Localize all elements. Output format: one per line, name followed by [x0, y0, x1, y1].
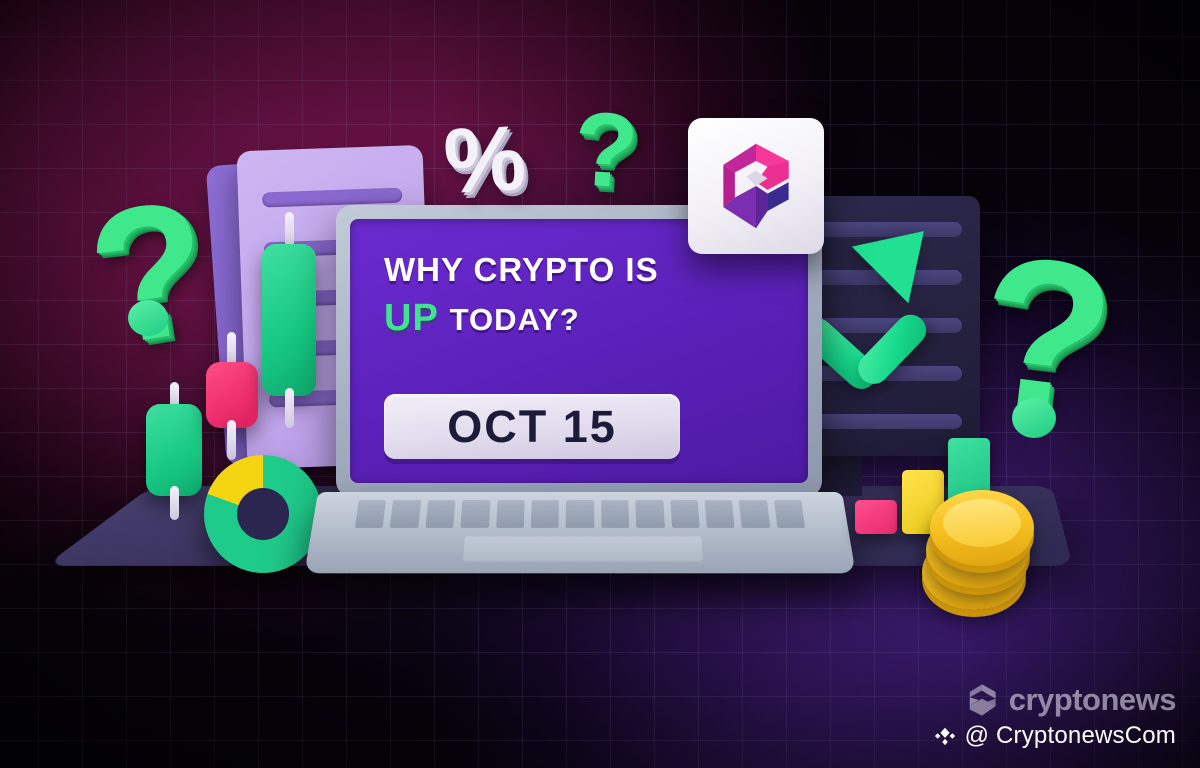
keyboard-key	[601, 500, 629, 528]
cryptonews-c-logo-icon	[708, 138, 804, 234]
scene-illustration: WHY CRYPTO IS UP TODAY? OCT 15	[0, 0, 1200, 768]
keyboard-key	[390, 500, 421, 528]
watermark-handle: @ CryptonewsCom	[965, 722, 1176, 750]
gold-coin	[930, 490, 1034, 566]
headline-today-word: TODAY?	[450, 302, 580, 337]
cryptonews-logo-badge	[688, 118, 824, 254]
keyboard-key	[774, 500, 805, 528]
monitor-stand	[818, 452, 862, 496]
keyboard-key	[460, 500, 490, 528]
keyboard-key	[566, 500, 594, 528]
headline-line-2: UP TODAY?	[384, 299, 786, 337]
candlestick-green	[262, 244, 316, 396]
candlestick-pink	[206, 362, 258, 428]
keyboard-key	[355, 500, 386, 528]
keyboard-keys	[355, 500, 805, 528]
watermark-brand-name: cryptonews	[1009, 682, 1176, 718]
screen-text-block: WHY CRYPTO IS UP TODAY?	[384, 253, 786, 337]
percent-symbol: %	[442, 112, 529, 208]
date-badge-label: OCT 15	[447, 401, 617, 453]
date-badge: OCT 15	[384, 394, 680, 459]
keyboard-key	[531, 500, 559, 528]
watermark: cryptonews @ CryptonewsCom	[934, 682, 1176, 750]
thumbnail-canvas: WHY CRYPTO IS UP TODAY? OCT 15	[0, 0, 1200, 768]
laptop-trackpad	[463, 536, 703, 561]
headline-up-word: UP	[384, 297, 438, 339]
laptop-screen: WHY CRYPTO IS UP TODAY? OCT 15	[350, 219, 808, 483]
cryptonews-logo-icon	[965, 683, 999, 717]
mini-bar-pink	[855, 500, 897, 534]
keyboard-key	[670, 500, 700, 528]
question-mark-top-icon: ?	[571, 96, 641, 204]
keyboard-key	[425, 500, 455, 528]
accent-dot	[128, 300, 168, 336]
keyboard-key	[635, 500, 664, 528]
keyboard-key	[739, 500, 770, 528]
donut-chart	[204, 455, 322, 573]
keyboard-key	[705, 500, 735, 528]
accent-dot	[1012, 398, 1056, 438]
keyboard-key	[496, 500, 525, 528]
laptop-keyboard-base	[304, 492, 855, 573]
diamond-sparkle-icon	[934, 725, 956, 747]
question-mark-left-icon: ?	[78, 170, 222, 376]
candlestick-green	[146, 404, 202, 496]
headline-line-1: WHY CRYPTO IS	[384, 253, 786, 286]
candle-wick	[227, 420, 236, 460]
watermark-brand-row: cryptonews	[934, 682, 1176, 718]
candle-wick	[285, 388, 294, 428]
watermark-handle-row: @ CryptonewsCom	[934, 722, 1176, 750]
candle-wick	[170, 486, 179, 520]
